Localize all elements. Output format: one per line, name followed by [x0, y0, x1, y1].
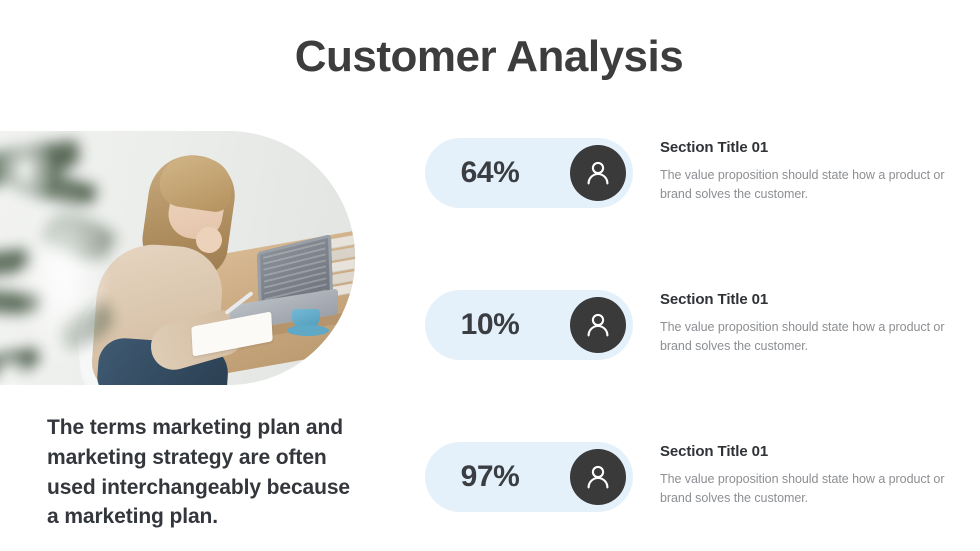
person-icon [570, 297, 626, 353]
caption-paragraph: The terms marketing plan and marketing s… [47, 413, 367, 532]
stat-pill[interactable]: 64% [425, 138, 633, 208]
stat-value: 10% [425, 290, 555, 360]
stat-text-block: Section Title 01 The value proposition s… [660, 292, 945, 356]
stat-title: Section Title 01 [660, 140, 945, 157]
page-title-text: Customer Analysis [295, 33, 683, 81]
stat-text-block: Section Title 01 The value proposition s… [660, 444, 945, 508]
stat-value: 97% [425, 442, 555, 512]
stat-row[interactable]: 97% Section Title 01 The value propositi… [425, 442, 945, 512]
stat-row[interactable]: 10% Section Title 01 The value propositi… [425, 290, 945, 360]
stat-title: Section Title 01 [660, 292, 945, 309]
hero-photo-illustration [0, 131, 355, 385]
person-icon [570, 145, 626, 201]
stat-description: The value proposition should state how a… [660, 318, 945, 356]
hero-photo [0, 131, 355, 385]
stat-title: Section Title 01 [660, 444, 945, 461]
page-title: Customer Analysis [0, 33, 980, 81]
stat-value: 64% [425, 138, 555, 208]
stat-description: The value proposition should state how a… [660, 166, 945, 204]
photo-coffee-cup [292, 309, 320, 329]
person-icon [570, 449, 626, 505]
stat-text-block: Section Title 01 The value proposition s… [660, 140, 945, 204]
stat-description: The value proposition should state how a… [660, 470, 945, 508]
stat-pill[interactable]: 10% [425, 290, 633, 360]
stat-pill[interactable]: 97% [425, 442, 633, 512]
stat-row[interactable]: 64% Section Title 01 The value propositi… [425, 138, 945, 208]
photo-foreground-blur [0, 131, 130, 385]
